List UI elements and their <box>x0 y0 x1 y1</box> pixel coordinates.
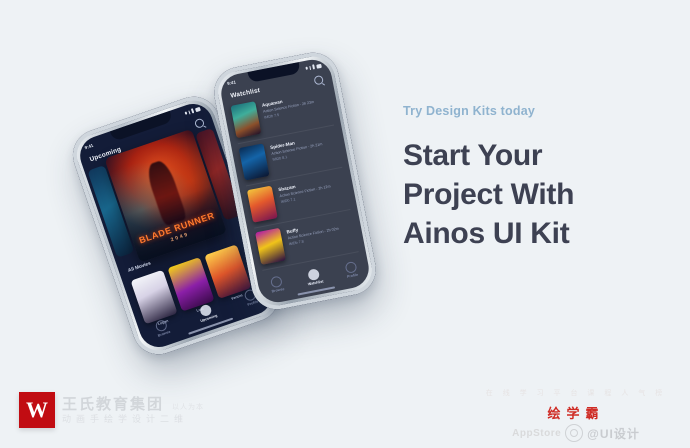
brand-name-block: 王氏教育集团 以人为本 动画手绘学设计二维 <box>62 397 204 424</box>
movie-poster-thumb <box>239 143 270 180</box>
poster-canvas: 9:41 Upcoming BLADE RUNNER 2049 All Movi… <box>0 0 690 448</box>
watchlist-row-meta: Buffy Action Science Fiction - 2h 02m IM… <box>286 217 341 246</box>
tab-label: Browse <box>271 287 285 293</box>
brand-logo: W 王氏教育集团 以人为本 动画手绘学设计二维 <box>19 392 204 428</box>
brand-subname: 动画手绘学设计二维 <box>62 415 204 424</box>
watchlist-row-meta: Shazam Action Science Fiction - 2h 12m I… <box>277 175 332 204</box>
search-icon[interactable] <box>194 118 205 129</box>
section-label-all-movies: All Movies <box>128 261 152 273</box>
movie-poster-thumb <box>230 101 261 138</box>
search-icon[interactable] <box>313 75 324 86</box>
tab-browse[interactable]: Browse <box>269 275 285 294</box>
headline-line-3: Ainos UI Kit <box>403 214 673 253</box>
app-title-right: Watchlist <box>230 87 261 100</box>
tab-watchlist[interactable]: Watchlist <box>305 267 324 286</box>
status-icons-left <box>184 106 201 116</box>
tab-upcoming[interactable]: Upcoming <box>196 302 218 323</box>
movie-poster-thumb <box>255 228 286 265</box>
brand-tagline: 以人为本 <box>172 402 204 412</box>
headline-line-1: Start Your <box>403 136 673 175</box>
page-title: Start Your Project With Ainos UI Kit <box>403 136 673 253</box>
watermark-block: 在 线 学 习 平 台 课 程 人 气 榜 绘学霸 AppStore @UI设计 <box>476 388 676 442</box>
person-icon <box>344 261 357 274</box>
status-time-left: 9:41 <box>84 143 94 151</box>
logo-mark-icon: W <box>19 392 55 428</box>
watermark-bottom-row: AppStore @UI设计 <box>476 424 676 442</box>
circle-icon <box>308 268 321 281</box>
marketing-copy: Try Design Kits today Start Your Project… <box>403 104 673 253</box>
watermark-faint-text: 在 线 学 习 平 台 课 程 人 气 榜 <box>476 388 676 398</box>
status-time-right: 9:41 <box>227 80 237 87</box>
headline-line-2: Project With <box>403 175 673 214</box>
watchlist-row-meta: Aquaman Action Science Fiction - 2h 23m … <box>261 90 316 119</box>
logo-letter: W <box>26 399 48 421</box>
eyebrow-text: Try Design Kits today <box>403 104 673 118</box>
watermark-brand: 绘学霸 <box>476 403 676 422</box>
tab-label: Profile <box>347 273 359 279</box>
movie-poster-thumb <box>247 186 278 223</box>
tab-label: Watchlist <box>308 280 324 287</box>
brand-name: 王氏教育集团 <box>62 397 164 412</box>
compass-icon <box>270 275 283 288</box>
status-icons-right <box>305 63 321 71</box>
appstore-label: AppStore <box>512 428 561 439</box>
weibo-icon <box>565 424 583 442</box>
poster-figure <box>144 158 187 226</box>
tab-browse[interactable]: Browse <box>153 318 171 338</box>
watchlist-row-meta: Spider-Man Action Science Fiction - 2h 2… <box>269 132 324 161</box>
social-handle: @UI设计 <box>587 425 640 442</box>
tab-profile[interactable]: Profile <box>344 261 358 279</box>
